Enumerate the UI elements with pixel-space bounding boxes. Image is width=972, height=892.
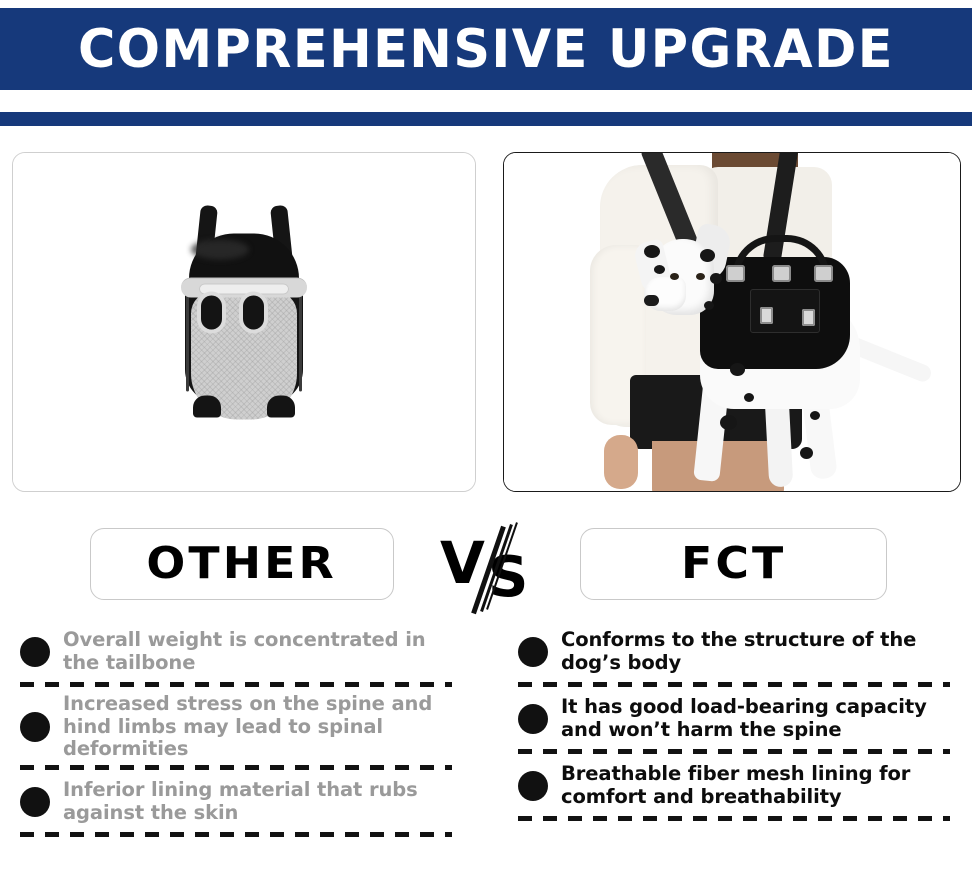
bullet-dot-icon: [518, 704, 548, 734]
vs-graphic: V S: [436, 520, 556, 610]
fct-brand-label: FCT: [681, 542, 786, 586]
header-banner: COMPREHENSIVE UPGRADE: [0, 8, 972, 90]
comparison-header-row: OTHER V S FCT: [0, 520, 972, 610]
comparison-lists: Overall weight is concentrated in the ta…: [0, 620, 972, 892]
bullet-dot-icon: [20, 787, 50, 817]
header-accent-rule: [0, 112, 972, 126]
list-item: Inferior lining material that rubs again…: [20, 770, 452, 832]
backpack-zipper-left: [186, 288, 189, 392]
carrier-clip-right: [814, 265, 833, 282]
backpack-leg-opening-left: [201, 296, 222, 330]
dog-spot: [700, 249, 715, 262]
backpack-bottom-opening-right: [267, 396, 295, 418]
carrier-buckle-right: [802, 309, 815, 326]
fct-product-image-panel: [503, 152, 961, 492]
list-item: Increased stress on the spine and hind l…: [20, 687, 452, 765]
backpack-zipper-right: [299, 288, 302, 392]
fct-feature-list: Conforms to the structure of the dog’s b…: [518, 620, 950, 821]
dog-nose: [644, 295, 659, 306]
list-item: Breathable fiber mesh lining for comfort…: [518, 754, 950, 816]
fct-product-photo: [504, 153, 960, 491]
other-feature-list: Overall weight is concentrated in the ta…: [20, 620, 452, 837]
list-item-label: Conforms to the structure of the dog’s b…: [561, 629, 950, 674]
lifestyle-photo-illustration: [504, 153, 960, 491]
fct-brand-pill: FCT: [580, 528, 887, 600]
dashed-divider: [518, 816, 950, 821]
dashed-divider: [20, 832, 452, 837]
dog-spot: [730, 363, 745, 376]
dog-eye-right: [696, 273, 705, 280]
bullet-dot-icon: [20, 637, 50, 667]
list-item-label: Overall weight is concentrated in the ta…: [63, 629, 452, 674]
list-item-label: Breathable fiber mesh lining for comfort…: [561, 763, 950, 808]
carrier-buckle-left: [760, 307, 773, 324]
backpack-bottom-opening-left: [193, 396, 221, 418]
vs-letter-v: V: [440, 534, 485, 592]
page-title: COMPREHENSIVE UPGRADE: [78, 23, 894, 76]
list-item: It has good load-bearing capacity and wo…: [518, 687, 950, 749]
list-item: Overall weight is concentrated in the ta…: [20, 620, 452, 682]
dog-spot: [644, 245, 660, 258]
dog-eye-left: [670, 273, 679, 280]
other-product-image-panel: [12, 152, 476, 492]
backpack-hood-highlight: [191, 240, 249, 260]
list-item: Conforms to the structure of the dog’s b…: [518, 620, 950, 682]
bullet-dot-icon: [20, 712, 50, 742]
dog-spot: [744, 393, 754, 402]
dog-spot: [710, 273, 722, 284]
other-brand-pill: OTHER: [90, 528, 394, 600]
backpack-elastic-gather: [199, 284, 289, 295]
list-item-label: It has good load-bearing capacity and wo…: [561, 696, 950, 741]
dog-spot: [654, 265, 665, 274]
dog-spot: [810, 411, 820, 420]
model-hand: [604, 435, 638, 489]
backpack-carrier-illustration: [169, 200, 319, 450]
dog-spot: [704, 301, 714, 310]
dog-spot: [720, 415, 737, 430]
carrier-clip-left: [726, 265, 745, 282]
bullet-dot-icon: [518, 771, 548, 801]
list-item-label: Increased stress on the spine and hind l…: [63, 693, 452, 761]
bullet-dot-icon: [518, 637, 548, 667]
other-brand-label: OTHER: [147, 542, 338, 586]
carrier-clip-center: [772, 265, 791, 282]
list-item-label: Inferior lining material that rubs again…: [63, 779, 452, 824]
dog-spot: [800, 447, 813, 459]
product-image-panels: [0, 152, 972, 492]
other-product-photo: [13, 153, 475, 491]
backpack-leg-opening-right: [243, 296, 264, 330]
